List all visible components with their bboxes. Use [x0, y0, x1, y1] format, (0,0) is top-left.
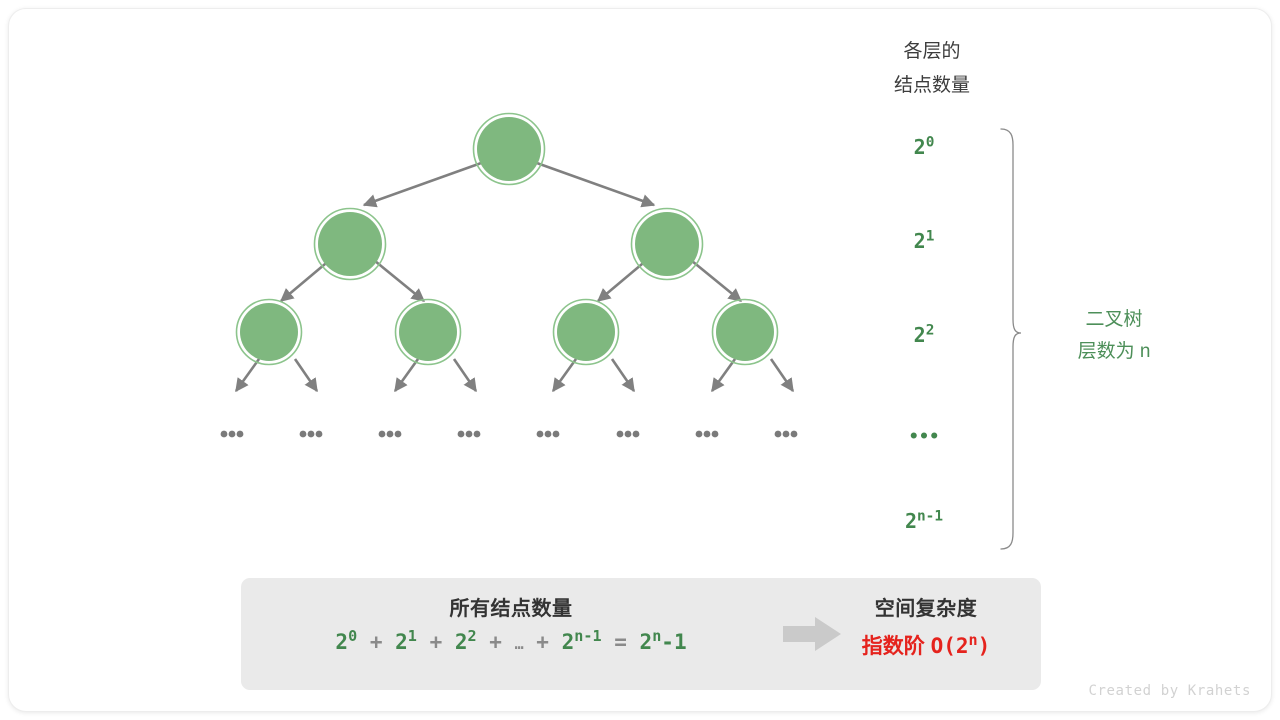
tree-leaf-ellipsis-row: [221, 431, 798, 438]
level-count-exp-2: 2: [926, 322, 935, 338]
formula-term-2: 22: [455, 630, 477, 654]
tree-node-level-1: [474, 114, 545, 185]
levels-header-line-1: 各层的: [857, 35, 1007, 69]
summary-left-title: 所有结点数量: [241, 592, 781, 621]
formula-plus-0: +: [370, 630, 383, 654]
level-count-exp-0: 0: [926, 134, 935, 150]
level-count-base-2: 2: [914, 323, 926, 347]
complexity-label: 指数阶: [862, 635, 925, 658]
figure-page: 各层的 结点数量 20 21 22 ••• 2n-1 二叉树 层数为 n 所有结…: [0, 0, 1280, 720]
levels-header-line-2: 结点数量: [857, 69, 1007, 103]
formula-plus-1: +: [430, 630, 443, 654]
level-count-label-0: 20: [864, 135, 984, 159]
summary-formula: 20 + 21 + 22 + … + 2n-1 = 2n-1: [241, 630, 781, 654]
figure-card: 各层的 结点数量 20 21 22 ••• 2n-1 二叉树 层数为 n 所有结…: [8, 8, 1272, 712]
summary-left: 所有结点数量 20 + 21 + 22 + … + 2n-1 = 2n-1: [241, 592, 781, 654]
formula-equals: =: [614, 630, 627, 654]
complexity-expr: O(2n): [931, 634, 991, 658]
summary-right-value: 指数阶 O(2n): [811, 630, 1041, 660]
level-count-base-1: 2: [914, 229, 926, 253]
brace-note-line-1: 二叉树: [1029, 304, 1199, 336]
level-count-label-1: 21: [864, 229, 984, 253]
tree-edges-level-3: [236, 359, 793, 391]
tree-node-level-3: [237, 300, 778, 365]
watermark: Created by Krahets: [1088, 683, 1251, 699]
level-count-base-last: 2: [905, 509, 917, 533]
formula-plus-2: +: [489, 630, 502, 654]
level-count-base-0: 2: [914, 135, 926, 159]
formula-term-4: 2n-1: [562, 630, 602, 654]
level-count-ellipsis: •••: [864, 427, 984, 447]
formula-term-1: 21: [395, 630, 417, 654]
level-count-exp-1: 1: [926, 228, 935, 244]
tree-node-level-2: [315, 209, 703, 280]
level-count-exp-last: n-1: [917, 508, 943, 524]
summary-box: 所有结点数量 20 + 21 + 22 + … + 2n-1 = 2n-1: [241, 578, 1041, 690]
brace-note-line-2: 层数为 n: [1029, 336, 1199, 368]
level-count-label-2: 22: [864, 323, 984, 347]
summary-right-title: 空间复杂度: [811, 592, 1041, 621]
formula-term-0: 20: [335, 630, 357, 654]
levels-header: 各层的 结点数量: [857, 35, 1007, 103]
brace-note: 二叉树 层数为 n: [1029, 304, 1199, 368]
formula-ellipsis: …: [515, 635, 524, 653]
level-count-label-last: 2n-1: [864, 509, 984, 533]
levels-brace: [1001, 129, 1021, 549]
formula-plus-3: +: [536, 630, 549, 654]
summary-right: 空间复杂度 指数阶 O(2n): [811, 592, 1041, 660]
formula-result: 2n-1: [640, 630, 687, 654]
